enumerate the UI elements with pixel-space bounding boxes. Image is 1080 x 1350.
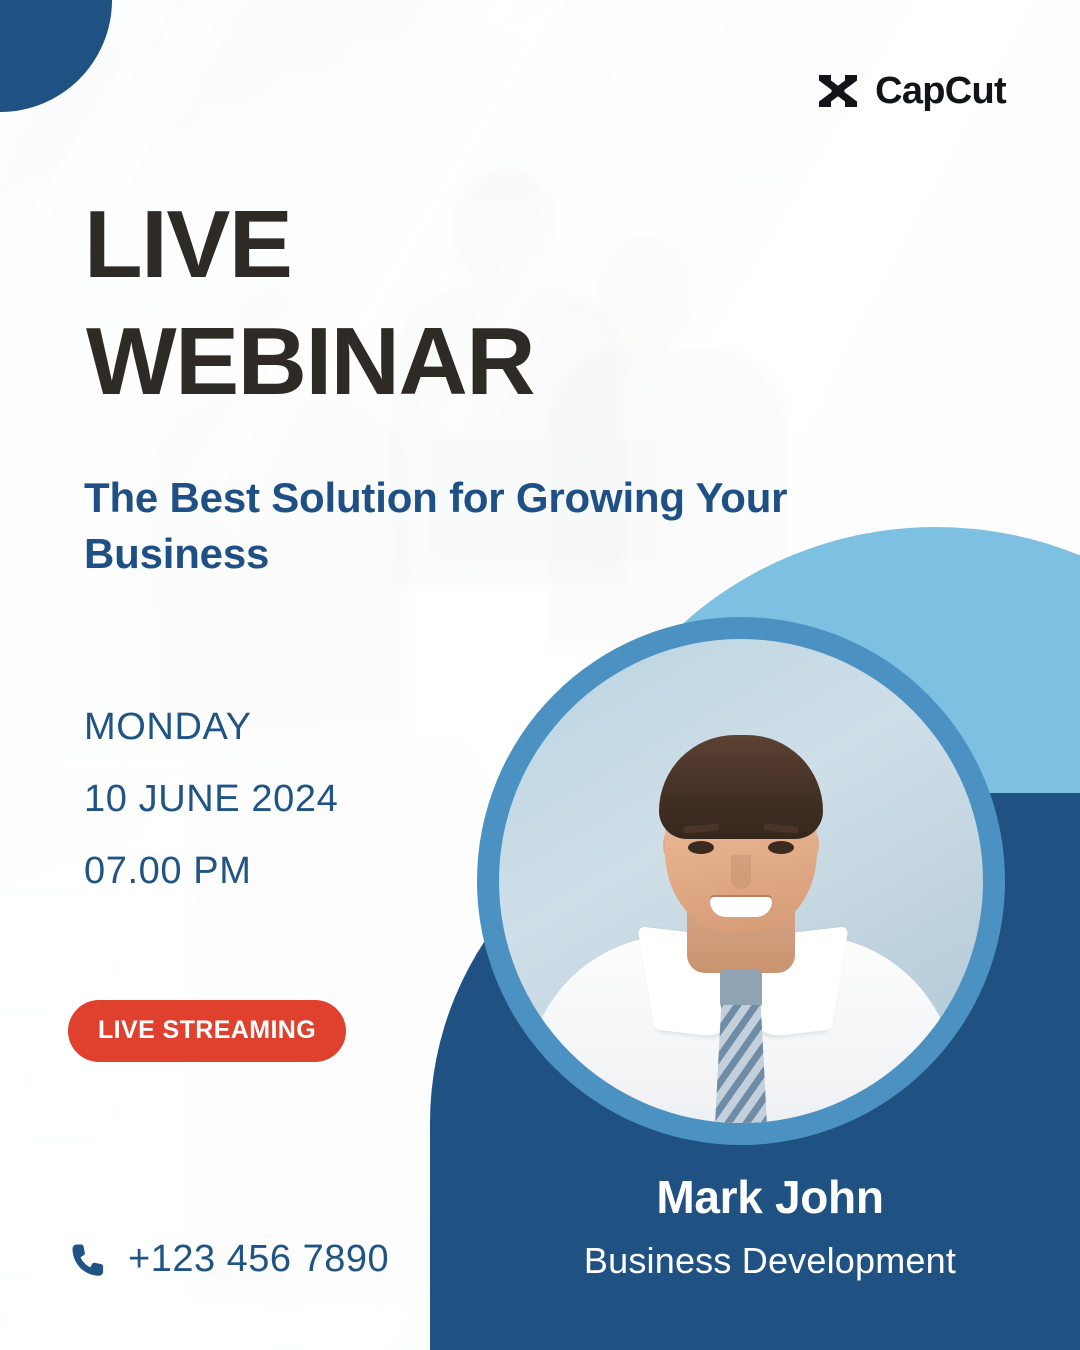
- speaker-name: Mark John: [470, 1170, 1070, 1224]
- portrait-tie-knot: [720, 969, 762, 1009]
- portrait-nose: [731, 855, 751, 889]
- subtitle: The Best Solution for Growing Your Busin…: [84, 470, 844, 583]
- webinar-poster: CapCut LIVE WEBINAR The Best Solution fo…: [0, 0, 1080, 1350]
- page-title: LIVE WEBINAR: [84, 186, 534, 420]
- live-streaming-badge[interactable]: LIVE STREAMING: [68, 1000, 346, 1062]
- event-datetime: MONDAY 10 JUNE 2024 07.00 PM: [84, 708, 338, 890]
- portrait-tie: [715, 1005, 767, 1123]
- speaker-portrait: [499, 639, 983, 1123]
- portrait-eye-right: [768, 841, 794, 854]
- event-day: MONDAY: [84, 708, 338, 746]
- portrait-eye-left: [688, 841, 714, 854]
- speaker-role: Business Development: [470, 1240, 1070, 1282]
- portrait-smile: [710, 897, 772, 917]
- event-time: 07.00 PM: [84, 852, 338, 890]
- headline-line-1: LIVE: [84, 191, 291, 298]
- capcut-logo: CapCut: [815, 72, 1006, 110]
- speaker-info: Mark John Business Development: [470, 1170, 1070, 1282]
- phone-number: +123 456 7890: [128, 1238, 389, 1281]
- phone-icon: [68, 1240, 108, 1280]
- capcut-hourglass-icon: [815, 72, 861, 110]
- portrait-hair: [659, 735, 823, 839]
- headline-line-2: WEBINAR: [86, 303, 534, 420]
- contact-phone[interactable]: +123 456 7890: [68, 1238, 389, 1281]
- capcut-wordmark: CapCut: [875, 72, 1006, 110]
- event-date: 10 JUNE 2024: [84, 780, 338, 818]
